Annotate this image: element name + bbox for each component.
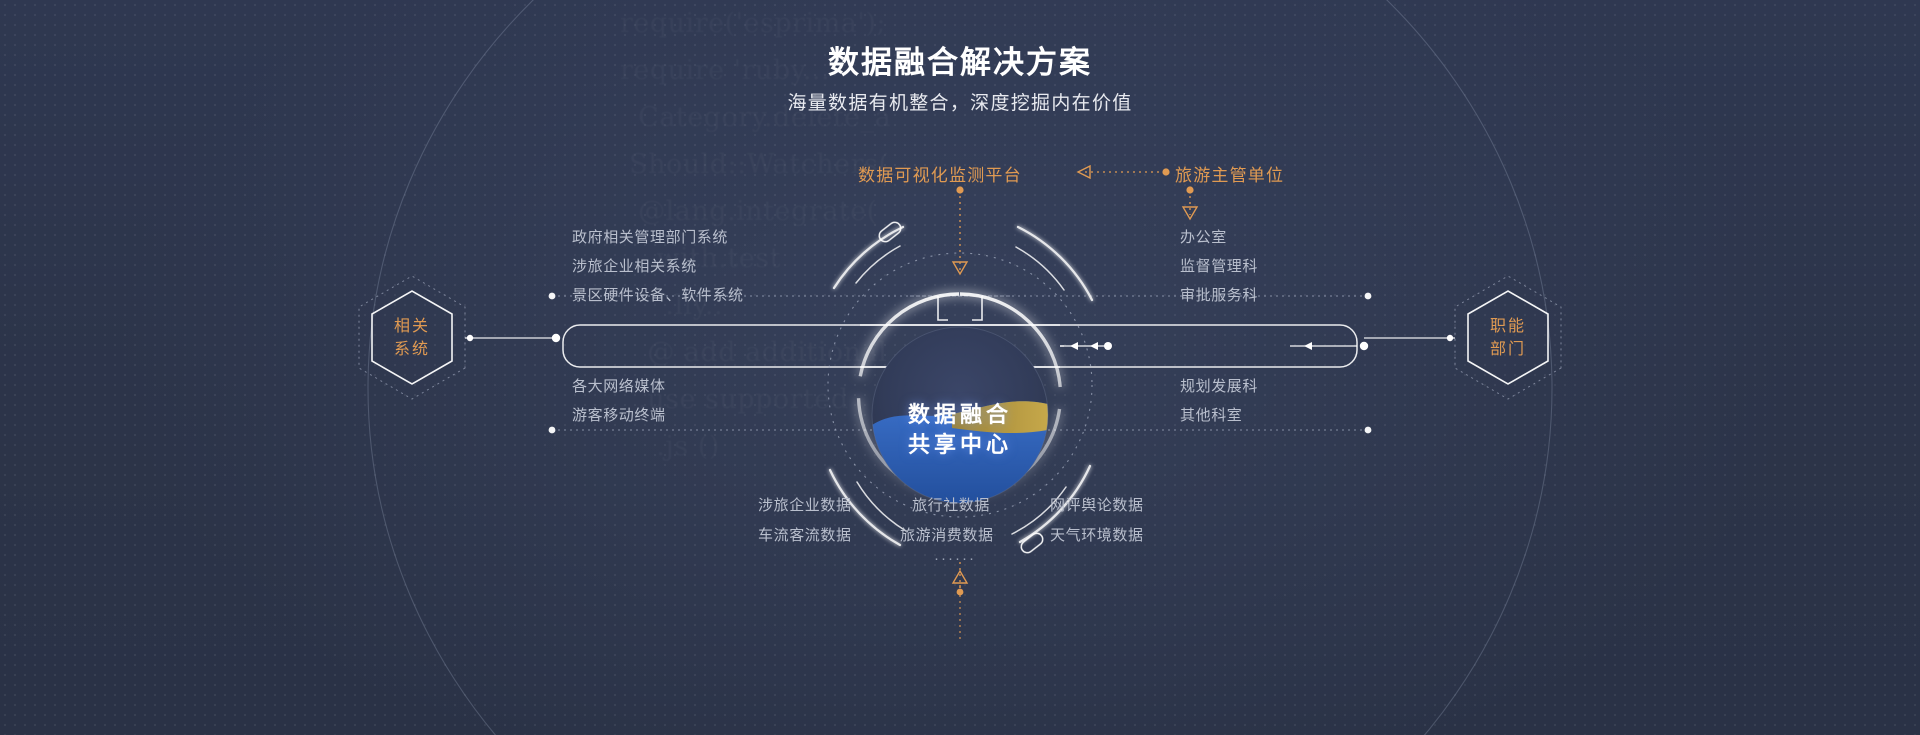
bottom-item-r2c2[interactable]: 天气环境数据: [1050, 524, 1144, 545]
center-line-1: 数据融合: [860, 400, 1060, 430]
bottom-ellipsis: ······: [934, 550, 976, 567]
right-item-0[interactable]: 办公室: [1180, 226, 1227, 247]
hexagon-right-line1: 职能: [1464, 315, 1552, 338]
page-title: 数据融合解决方案: [0, 37, 1920, 82]
left-lower-item-1[interactable]: 游客移动终端: [572, 404, 666, 425]
left-lower-item-0[interactable]: 各大网络媒体: [572, 375, 666, 396]
right-item-1[interactable]: 监督管理科: [1180, 255, 1258, 276]
label-tourism-authority[interactable]: 旅游主管单位: [1175, 161, 1284, 186]
hexagon-right-label[interactable]: 职能 部门: [1464, 315, 1552, 361]
bottom-flow-connector: [953, 560, 967, 640]
label-visualization-platform[interactable]: 数据可视化监测平台: [858, 161, 1022, 186]
left-item-2[interactable]: 景区硬件设备、软件系统: [572, 284, 744, 305]
center-core-label: 数据融合 共享中心: [860, 400, 1060, 460]
center-line-2: 共享中心: [860, 430, 1060, 460]
left-item-0[interactable]: 政府相关管理部门系统: [572, 226, 728, 247]
hexagon-left-line2: 系统: [368, 338, 456, 361]
right-lower-item-1[interactable]: 其他科室: [1180, 404, 1242, 425]
page-subtitle: 海量数据有机整合，深度挖掘内在价值: [0, 88, 1920, 115]
bottom-item-r1c1[interactable]: 旅行社数据: [912, 494, 990, 515]
left-item-1[interactable]: 涉旅企业相关系统: [572, 255, 697, 276]
bottom-item-r2c0[interactable]: 车流客流数据: [758, 524, 852, 545]
hexagon-left-label[interactable]: 相关 系统: [368, 315, 456, 361]
hexagon-left-line1: 相关: [368, 315, 456, 338]
right-item-2[interactable]: 审批服务科: [1180, 284, 1258, 305]
bottom-item-r1c0[interactable]: 涉旅企业数据: [758, 494, 852, 515]
bottom-item-r1c2[interactable]: 网评舆论数据: [1050, 494, 1144, 515]
right-lower-item-0[interactable]: 规划发展科: [1180, 375, 1258, 396]
bottom-item-r2c1[interactable]: 旅游消费数据: [900, 524, 994, 545]
infographic-stage: 数据融合解决方案 海量数据有机整合，深度挖掘内在价值 数据可视化监测平台 旅游主…: [0, 0, 1920, 735]
hexagon-right-line2: 部门: [1464, 338, 1552, 361]
